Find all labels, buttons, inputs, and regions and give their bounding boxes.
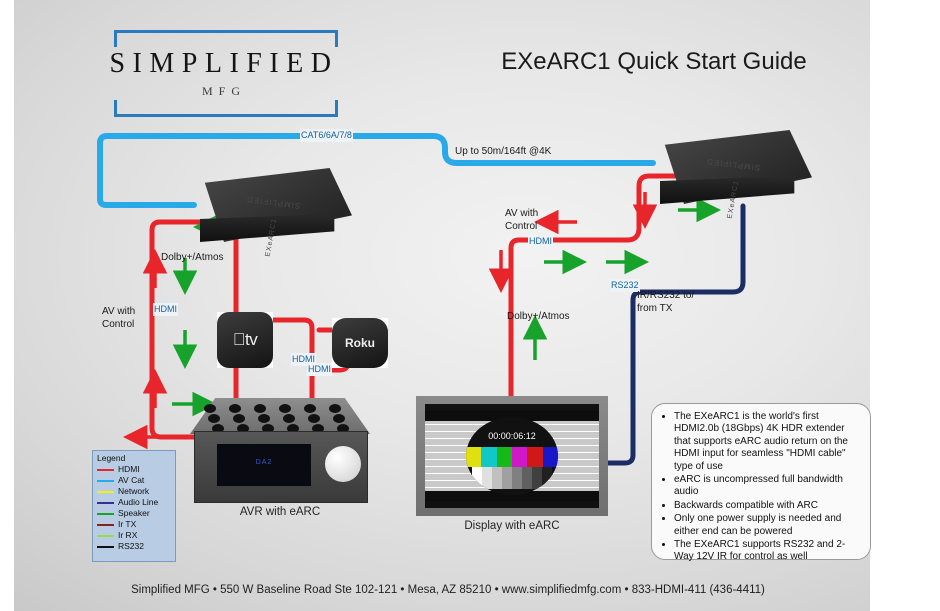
avr-vent-hole (308, 414, 320, 423)
cat6-cable (100, 136, 653, 205)
color-bar (481, 447, 496, 467)
label-av-control-center: AV with Control (505, 207, 538, 233)
legend-item-ir-tx: Ir TX (93, 519, 175, 530)
label-rs232: RS232 (610, 279, 640, 292)
footer-contact: Simplified MFG • 550 W Baseline Road Ste… (38, 584, 858, 596)
test-card-grey-scale (472, 467, 552, 489)
legend-label: Speaker (118, 508, 150, 519)
label-ir-rs232: IR/RS232 to/ from TX (637, 289, 694, 315)
color-bar (466, 447, 481, 467)
label-hdmi-left: HDMI (153, 303, 178, 316)
avr-vent-hole (283, 414, 295, 423)
label-hdmi-roku: HDMI (307, 363, 332, 376)
grey-step (502, 467, 512, 489)
legend-swatch (97, 513, 114, 515)
device-avr: DA2 AVR with eARC (190, 398, 370, 510)
legend-swatch (97, 546, 114, 548)
grey-step (532, 467, 542, 489)
callout-bullet: The EXeARC1 is the world's first HDMI2.0… (674, 411, 862, 473)
legend-label: Network (118, 486, 149, 497)
logo-bracket-bottom (114, 100, 338, 117)
grey-step (492, 467, 502, 489)
label-av-control-left: AV with Control (102, 305, 135, 331)
callout-bullet: Only one power supply is needed and eith… (674, 513, 862, 538)
legend-swatch (97, 535, 114, 537)
page-title: EXeARC1 Quick Start Guide (454, 48, 854, 76)
poster-canvas: SIMPLIFIED MFG EXeARC1 Quick Start Guide (14, 0, 870, 611)
legend-label: Ir RX (118, 530, 137, 541)
test-card-ellipse: 00:00:06:12 MFG CHANNEL SES (466, 417, 558, 495)
callout-bullet: Backwards compatible with ARC (674, 500, 862, 512)
roku-label: Roku (345, 336, 375, 350)
label-cat6: CAT6/6A/7/8 (300, 129, 353, 142)
legend-swatch (97, 502, 114, 504)
legend-swatch (97, 524, 114, 526)
avr-vent-hole (304, 404, 316, 413)
legend-swatch (97, 480, 114, 482)
legend-item-hdmi: HDMI (93, 464, 175, 475)
legend-label: Ir TX (118, 519, 136, 530)
device-display: 00:00:06:12 MFG CHANNEL SES Display with… (416, 396, 608, 516)
label-dolby-left: Dolby+/Atmos (161, 251, 224, 264)
avr-vent-hole (258, 414, 270, 423)
color-bar (497, 447, 512, 467)
test-card-color-bars (466, 447, 558, 467)
label-distance: Up to 50m/164ft @4K (455, 145, 551, 158)
avr-vent-hole (204, 404, 216, 413)
tv-timecode: 00:00:06:12 (466, 431, 558, 441)
avr-vent-hole (279, 404, 291, 413)
color-bar (512, 447, 527, 467)
avr-vent-hole (329, 404, 341, 413)
device-roku: Roku (332, 318, 388, 368)
legend-item-network: Network (93, 486, 175, 497)
legend-label: Audio Line (118, 497, 158, 508)
legend-swatch (97, 469, 114, 471)
grey-step (522, 467, 532, 489)
logo-subtext: MFG (98, 84, 350, 99)
avr-vent-holes (204, 404, 356, 432)
brand-logo: SIMPLIFIED MFG (98, 26, 350, 118)
device-apple-tv: tv (217, 312, 273, 368)
legend-title: Legend (93, 451, 175, 464)
grey-step (512, 467, 522, 489)
avr-volume-knob[interactable] (325, 446, 361, 482)
logo-bracket-top (114, 30, 338, 47)
legend-item-rs232: RS232 (93, 541, 175, 552)
legend-item-av-cat: AV Cat (93, 475, 175, 486)
label-dolby-center: Dolby+/Atmos (507, 310, 570, 323)
callout-bullet: eARC is uncompressed full bandwidth audi… (674, 474, 862, 499)
test-card-logo-strip: MFG CHANNEL SES (480, 491, 544, 495)
device-transmitter: SIMPLIFIED EXeARC1 (192, 168, 352, 263)
avr-vent-hole (233, 414, 245, 423)
label-hdmi-center: HDMI (528, 235, 553, 248)
legend-label: HDMI (118, 464, 140, 475)
avr-vent-hole (254, 404, 266, 413)
legend-label: RS232 (118, 541, 144, 552)
avr-vent-hole (333, 414, 345, 423)
logo-wordmark: SIMPLIFIED (98, 48, 350, 80)
legend-label: AV Cat (118, 475, 144, 486)
legend-item-audio-line: Audio Line (93, 497, 175, 508)
avr-vent-hole (229, 404, 241, 413)
avr-vent-hole (208, 414, 220, 423)
apple-logo-icon:  (233, 330, 245, 349)
grey-step (482, 467, 492, 489)
callout-bullet: The EXeARC1 supports RS232 and 2-Way 12V… (674, 539, 862, 564)
device-receiver: SIMPLIFIED EXeARC1 (652, 130, 812, 225)
tv-caption: Display with eARC (406, 520, 618, 532)
feature-callout-box: The EXeARC1 is the world's first HDMI2.0… (651, 403, 871, 560)
legend-item-ir-rx: Ir RX (93, 530, 175, 541)
color-bar (543, 447, 558, 467)
apple-tv-label: tv (233, 330, 257, 350)
tv-test-pattern: 00:00:06:12 MFG CHANNEL SES (425, 411, 599, 501)
legend-swatch (97, 491, 114, 493)
color-bar (527, 447, 542, 467)
avr-display: DA2 (217, 444, 311, 486)
avr-front-panel: DA2 (194, 431, 368, 503)
grey-step (472, 467, 482, 489)
legend-item-speaker: Speaker (93, 508, 175, 519)
avr-caption: AVR with eARC (182, 506, 378, 518)
grey-step (542, 467, 552, 489)
legend: Legend HDMIAV CatNetworkAudio LineSpeake… (92, 450, 176, 562)
